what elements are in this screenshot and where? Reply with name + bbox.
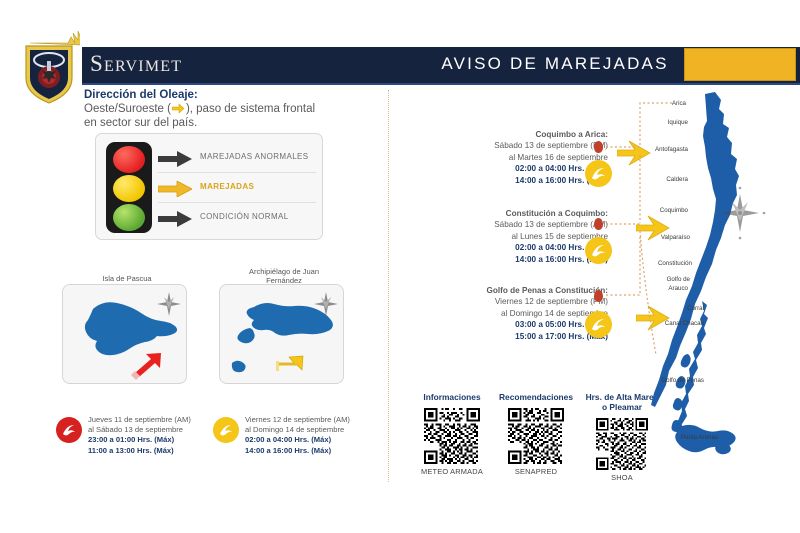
lamp-yellow	[113, 175, 145, 202]
city-label-caldera: Caldera	[666, 176, 688, 183]
city-label-canal-chacao: Canal Chacao	[665, 320, 704, 327]
dark-arrow-icon	[158, 211, 192, 232]
qr-code-icon[interactable]	[424, 408, 480, 464]
alert-end: al Martes 16 de septiembre	[398, 152, 608, 163]
wave-direction-line1-pre: Oeste/Suroeste (	[84, 103, 171, 115]
severity-legend: MAREJADAS ANORMALES MAREJADAS CONDICIÓN …	[95, 133, 323, 240]
alert-window-2: 15:00 a 17:00 Hrs. (Máx)	[398, 331, 608, 342]
lamp-red	[113, 146, 145, 173]
alert-window-1: 02:00 a 04:00 Hrs. (Máx)	[398, 242, 608, 253]
alert-window-2: 14:00 a 16:00 Hrs. (Máx)	[245, 446, 395, 456]
panel-divider	[388, 90, 389, 482]
legend-label: MAREJADAS	[200, 182, 254, 191]
legend-label: CONDICIÓN NORMAL	[200, 212, 289, 221]
legend-row-normal: CONDICIÓN NORMAL	[158, 204, 318, 234]
legend-row-anormales: MAREJADAS ANORMALES	[158, 144, 318, 174]
island-alert-text: Viernes 12 de septiembre (AM) al Domingo…	[245, 415, 395, 456]
alert-entry-coquimbo-arica: Coquimbo a Arica: Sábado 13 de septiembr…	[398, 129, 608, 186]
city-label-arica: Arica	[672, 100, 686, 107]
qr-informaciones[interactable]: Informaciones	[404, 392, 500, 476]
qr-heading: Informaciones	[404, 392, 500, 402]
navy-crest-icon	[18, 29, 80, 105]
alert-start: Viernes 12 de septiembre (PM)	[398, 296, 608, 307]
header-accent-block	[684, 48, 796, 81]
legend-row-marejadas: MAREJADAS	[158, 174, 318, 204]
page-title: AVISO DE MAREJADAS	[430, 54, 680, 74]
alert-window-2: 14:00 a 16:00 Hrs. (Máx)	[398, 175, 608, 186]
island-title-juan-fernandez: Archipiélago de Juan Fernández	[219, 268, 349, 285]
alert-start: Sábado 13 de septiembre (AM)	[398, 219, 608, 230]
yellow-arrow-icon	[172, 103, 185, 117]
island-title-pascua: Isla de Pascua	[62, 274, 192, 283]
alert-window-1: 03:00 a 05:00 Hrs. (Máx)	[398, 319, 608, 330]
lamp-green	[113, 204, 145, 231]
qr-heading: Recomendaciones	[488, 392, 584, 402]
city-label-constitucion: Constitución	[658, 260, 692, 267]
alert-end: al Domingo 14 de septiembre	[245, 425, 395, 435]
alert-zone: Coquimbo a Arica:	[398, 129, 608, 140]
brand-title: Servimet	[90, 51, 182, 77]
qr-code-icon[interactable]	[508, 408, 564, 464]
city-label-golfo-arauco-l1: Golfo de	[667, 276, 690, 283]
wave-direction-line2: en sector sur del país.	[84, 117, 197, 129]
wave-direction-heading: Dirección del Oleaje:	[84, 89, 198, 101]
alert-window-2: 14:00 a 16:00 Hrs. (Máx)	[398, 254, 608, 265]
marejadas-poster: Servimet AVISO DE MAREJADAS Dirección de…	[0, 0, 800, 533]
alert-end: al Domingo 14 de septiembre	[398, 308, 608, 319]
compass-rose-icon	[157, 292, 181, 316]
city-label-iquique: Iquique	[668, 119, 688, 126]
qr-caption: METEO ARMADA	[404, 467, 500, 476]
island-map-pascua	[62, 284, 187, 384]
traffic-light-icon	[106, 142, 152, 233]
qr-caption: SHOA	[574, 473, 670, 482]
island-map-juan-fernandez	[219, 284, 344, 384]
header-underline	[82, 83, 800, 85]
city-label-coquimbo: Coquimbo	[660, 207, 688, 214]
city-label-antofagasta: Antofagasta	[655, 146, 688, 153]
alert-start: Viernes 12 de septiembre (AM)	[245, 415, 395, 425]
alert-window-1: 02:00 a 04:00 Hrs. (Máx)	[245, 435, 395, 445]
alert-window-2: 11:00 a 13:00 Hrs. (Máx)	[88, 446, 238, 456]
city-label-golfo-arauco-l2: Arauco	[668, 285, 688, 292]
chile-map: Arica Iquique Antofagasta Caldera Coquim…	[630, 86, 800, 456]
dark-arrow-icon	[158, 151, 192, 172]
wave-icon	[213, 417, 239, 443]
city-label-valparaiso: Valparaíso	[661, 234, 690, 241]
alert-zone: Golfo de Penas a Constitución:	[398, 285, 608, 296]
city-label-punta-arenas: Punta Arenas	[681, 434, 718, 441]
alert-end: al Lunes 15 de septiembre	[398, 231, 608, 242]
alert-entry-constitucion-coquimbo: Constitución a Coquimbo: Sábado 13 de se…	[398, 208, 608, 265]
alert-zone: Constitución a Coquimbo:	[398, 208, 608, 219]
yellow-arrow-icon	[276, 356, 303, 371]
wave-direction-line1-post: ), paso de sistema frontal	[186, 103, 315, 115]
alert-entry-penas-constitucion: Golfo de Penas a Constitución: Viernes 1…	[398, 285, 608, 342]
wave-direction-line1: Oeste/Suroeste (), paso de sistema front…	[84, 103, 315, 117]
qr-caption: SENAPRED	[488, 467, 584, 476]
alert-window-1: 02:00 a 04:00 Hrs. (Máx)	[398, 163, 608, 174]
wave-icon	[56, 417, 82, 443]
qr-recomendaciones[interactable]: Recomendaciones	[488, 392, 584, 476]
red-arrow-icon	[131, 353, 161, 380]
alert-start: Sábado 13 de septiembre (PM)	[398, 140, 608, 151]
yellow-arrow-icon	[158, 181, 192, 202]
legend-label: MAREJADAS ANORMALES	[200, 152, 309, 161]
city-label-golfo-penas: Golfo de Penas	[661, 377, 704, 384]
city-label-corral: Corral	[687, 305, 704, 312]
